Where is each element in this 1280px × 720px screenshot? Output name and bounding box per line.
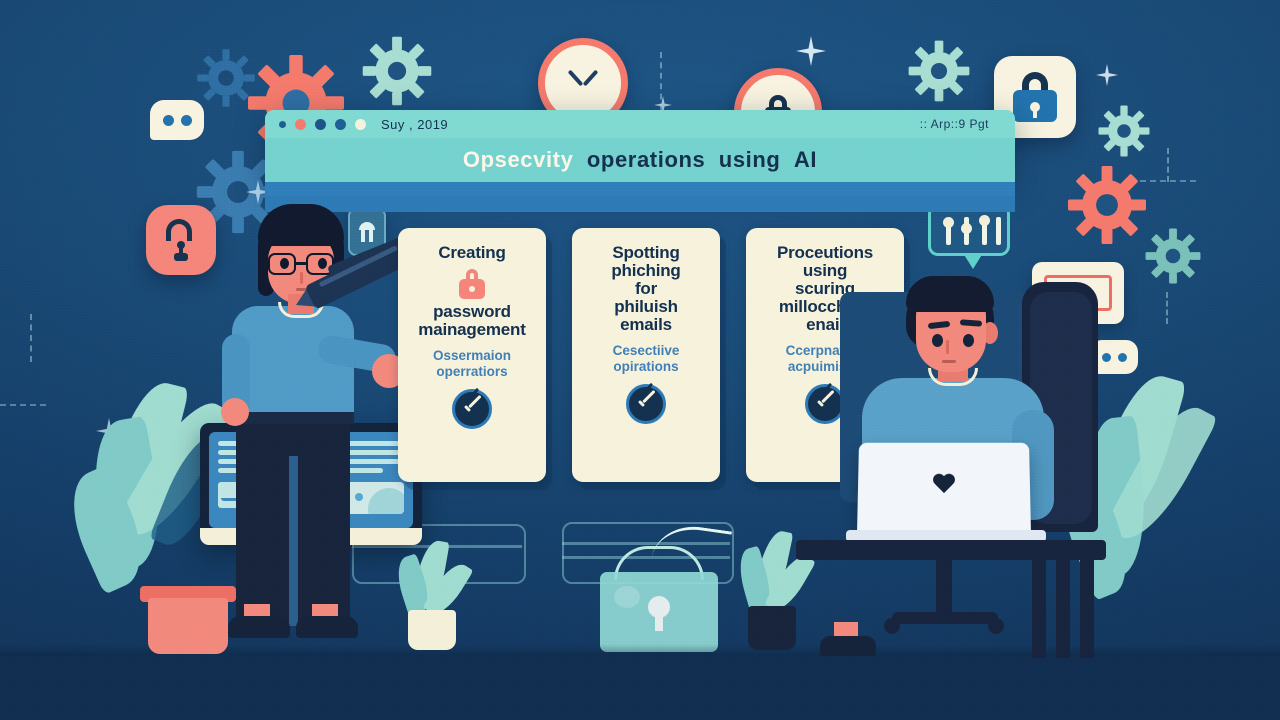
desk-leg [1080,558,1094,658]
desk-leg [1032,558,1046,658]
gear-mint-small-icon [1098,105,1150,157]
card-heading: password [408,303,536,321]
browser-titlebar: Suy , 2019 :: Arp::9 Pgt [265,110,1015,138]
dashed-connector [1140,180,1196,182]
card-heading: Spotting [582,244,710,262]
dashed-connector [0,404,46,406]
browser-content-strip-highlight [265,182,1015,196]
gear-mint-lower-icon [1145,228,1201,284]
chair-post [936,560,952,616]
title-word-ai: AI [794,147,817,173]
sparkle-icon [796,36,826,71]
padlock-large-highlight [614,586,640,608]
card-heading: using [756,262,894,280]
gear-coral-right-icon [1068,166,1146,244]
window-dot[interactable] [335,119,346,130]
card-heading: philuish [582,298,710,316]
plant-pot [408,610,456,650]
laptop-with-heart-logo[interactable] [857,443,1031,535]
card-subtext: opirations [582,359,710,374]
chat-bubble-icon [150,100,204,140]
card-subtext: Cesectiive [582,343,710,358]
gear-mint-tiny-icon [908,40,970,102]
check-icon [566,74,600,92]
check-badge [452,389,492,429]
card-heading: Creating [408,244,536,262]
card-subtext: Ossermaion [408,348,536,363]
heart-icon [932,474,956,496]
desk [796,540,1106,560]
card-heading: for [582,280,710,298]
lock-icon [459,269,485,299]
card-heading: mainagement [408,321,536,339]
chair-base [892,612,998,624]
card-heading: phiching [582,262,710,280]
plant-pot [748,606,796,650]
topic-card-1[interactable]: Creating password mainagement Ossermaion… [398,228,546,482]
mouth [942,360,956,363]
padlock-icon [1013,72,1057,122]
pause-icon [359,222,375,242]
window-dot[interactable] [315,119,326,130]
topic-card-2[interactable]: Spotting phiching for philuish emails Ce… [572,228,720,482]
card-heading: Proceutions [756,244,894,262]
card-heading: emails [582,316,710,334]
page-title: Opsecvity operations using AI [265,138,1015,182]
browser-address-label: :: Arp::9 Pgt [920,117,989,131]
dashed-connector [30,314,32,362]
title-word-using: using [719,147,781,173]
sparkle-icon [1096,64,1118,91]
check-badge [626,384,666,424]
dashed-connector [1166,292,1168,324]
gear-blue-small-icon [196,48,256,108]
plant-pot [148,598,228,654]
check-badge [805,384,845,424]
title-word-opsecvity: Opsecvity [463,147,574,173]
unlock-square-badge[interactable] [146,205,216,275]
window-dot-close[interactable] [295,119,306,130]
window-dot[interactable] [355,119,366,130]
title-word-operations: operations [587,147,705,173]
browser-window: Suy , 2019 :: Arp::9 Pgt Opsecvity opera… [265,110,1015,182]
nose [946,340,949,354]
browser-tab-label: Suy , 2019 [381,117,448,132]
desk-leg [1056,558,1070,658]
window-dot[interactable] [279,121,286,128]
dashed-connector [660,52,662,110]
floor [0,656,1280,720]
gear-mint-medium-icon [362,36,432,106]
chair-caster [988,618,1004,634]
illustration-canvas: Suy , 2019 :: Arp::9 Pgt Opsecvity opera… [0,0,1280,720]
chair-caster [884,618,900,634]
dashed-connector [1167,148,1169,182]
card-subtext: operratiors [408,364,536,379]
unlock-icon [164,219,198,261]
